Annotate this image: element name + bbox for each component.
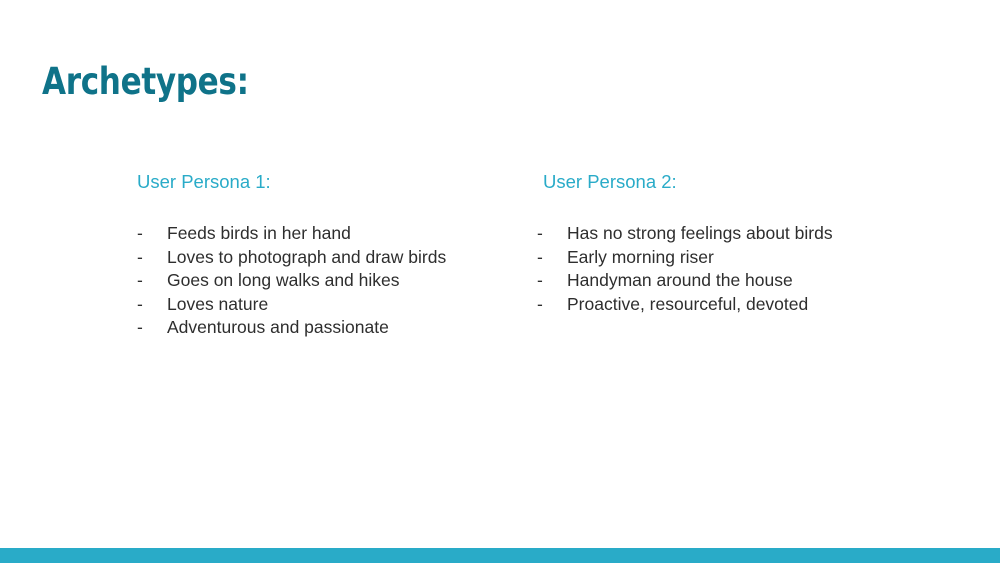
list-item: - Loves nature <box>137 293 497 317</box>
content-area: User Persona 1: - Feeds birds in her han… <box>0 170 1000 500</box>
page-title: Archetypes: <box>42 60 249 104</box>
dash-icon: - <box>137 269 143 293</box>
list-item: - Adventurous and passionate <box>137 316 497 340</box>
list-item-label: Early morning riser <box>567 246 937 270</box>
list-item-label: Feeds birds in her hand <box>167 222 497 246</box>
list-item: - Has no strong feelings about birds <box>537 222 937 246</box>
dash-icon: - <box>537 269 543 293</box>
dash-icon: - <box>137 293 143 317</box>
dash-icon: - <box>137 222 143 246</box>
list-item: - Goes on long walks and hikes <box>137 269 497 293</box>
slide: Archetypes: User Persona 1: - Feeds bird… <box>0 0 1000 563</box>
list-item-label: Handyman around the house <box>567 269 937 293</box>
dash-icon: - <box>537 293 543 317</box>
persona-column-1: User Persona 1: - Feeds birds in her han… <box>137 170 497 340</box>
dash-icon: - <box>137 316 143 340</box>
list-item: - Early morning riser <box>537 246 937 270</box>
persona-1-bullet-list: - Feeds birds in her hand - Loves to pho… <box>137 222 497 340</box>
dash-icon: - <box>537 222 543 246</box>
persona-1-heading: User Persona 1: <box>137 170 497 194</box>
dash-icon: - <box>537 246 543 270</box>
list-item-label: Adventurous and passionate <box>167 316 497 340</box>
persona-2-bullet-list: - Has no strong feelings about birds - E… <box>537 222 937 316</box>
dash-icon: - <box>137 246 143 270</box>
footer-accent-bar <box>0 548 1000 563</box>
persona-2-heading: User Persona 2: <box>537 170 937 194</box>
persona-column-2: User Persona 2: - Has no strong feelings… <box>537 170 937 316</box>
list-item-label: Loves to photograph and draw birds <box>167 246 497 270</box>
list-item: - Handyman around the house <box>537 269 937 293</box>
list-item: - Loves to photograph and draw birds <box>137 246 497 270</box>
list-item-label: Has no strong feelings about birds <box>567 222 937 246</box>
list-item: - Feeds birds in her hand <box>137 222 497 246</box>
list-item-label: Loves nature <box>167 293 497 317</box>
list-item-label: Proactive, resourceful, devoted <box>567 293 937 317</box>
list-item: - Proactive, resourceful, devoted <box>537 293 937 317</box>
list-item-label: Goes on long walks and hikes <box>167 269 497 293</box>
